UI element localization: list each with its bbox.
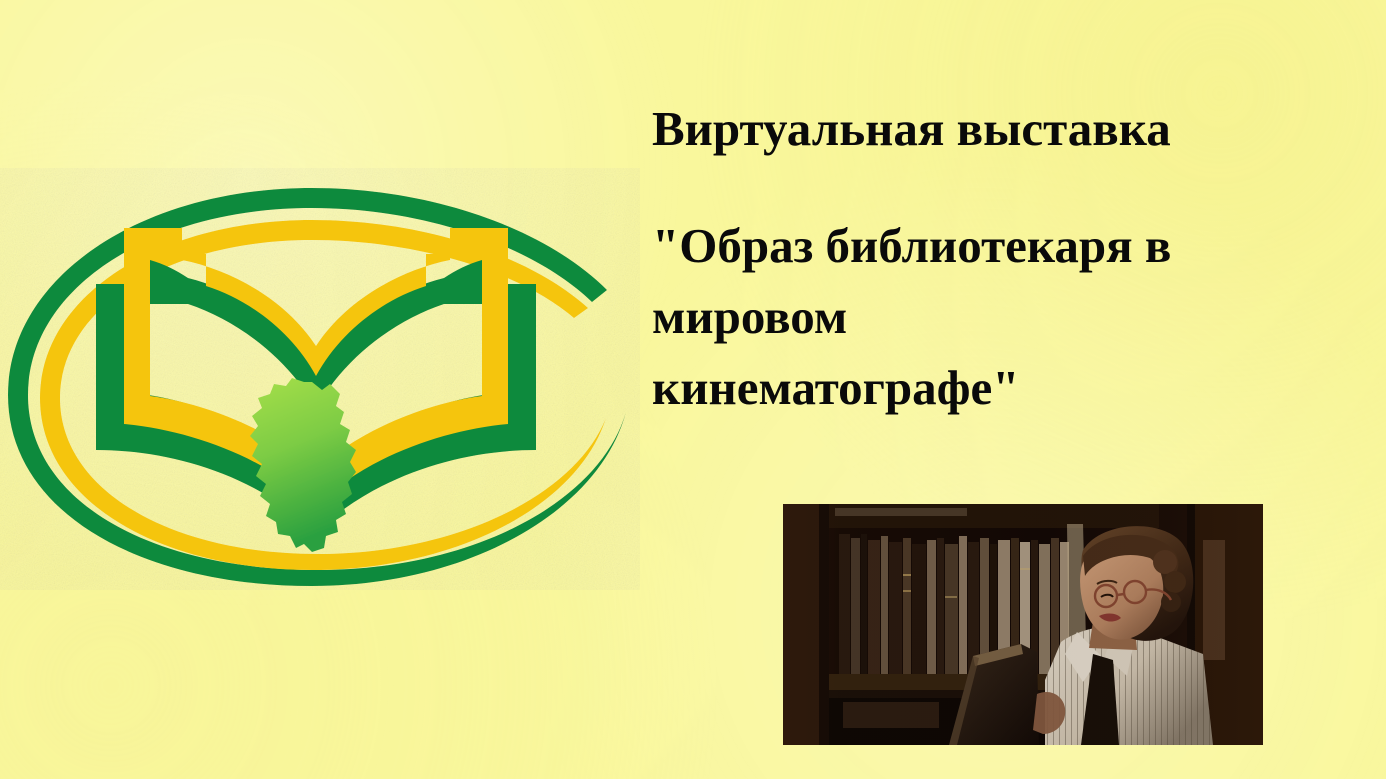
subtitle-line-1: "Образ библиотекаря в <box>652 210 1352 281</box>
library-logo <box>0 150 640 590</box>
photo-vignette-overlay <box>783 504 1263 745</box>
subtitle-line-3: кинематографе" <box>652 352 1352 423</box>
logo-region-map-shape <box>250 378 356 552</box>
presentation-slide: Виртуальная выставка "Образ библиотекаря… <box>0 0 1386 779</box>
page-title: Виртуальная выставка <box>652 100 1380 158</box>
subtitle-line-2: мировом <box>652 281 1352 352</box>
librarian-photo <box>783 504 1263 745</box>
exhibition-subtitle: "Образ библиотекаря в мировом кинематогр… <box>652 158 1352 423</box>
slide-text-block: Виртуальная выставка "Образ библиотекаря… <box>652 100 1380 423</box>
